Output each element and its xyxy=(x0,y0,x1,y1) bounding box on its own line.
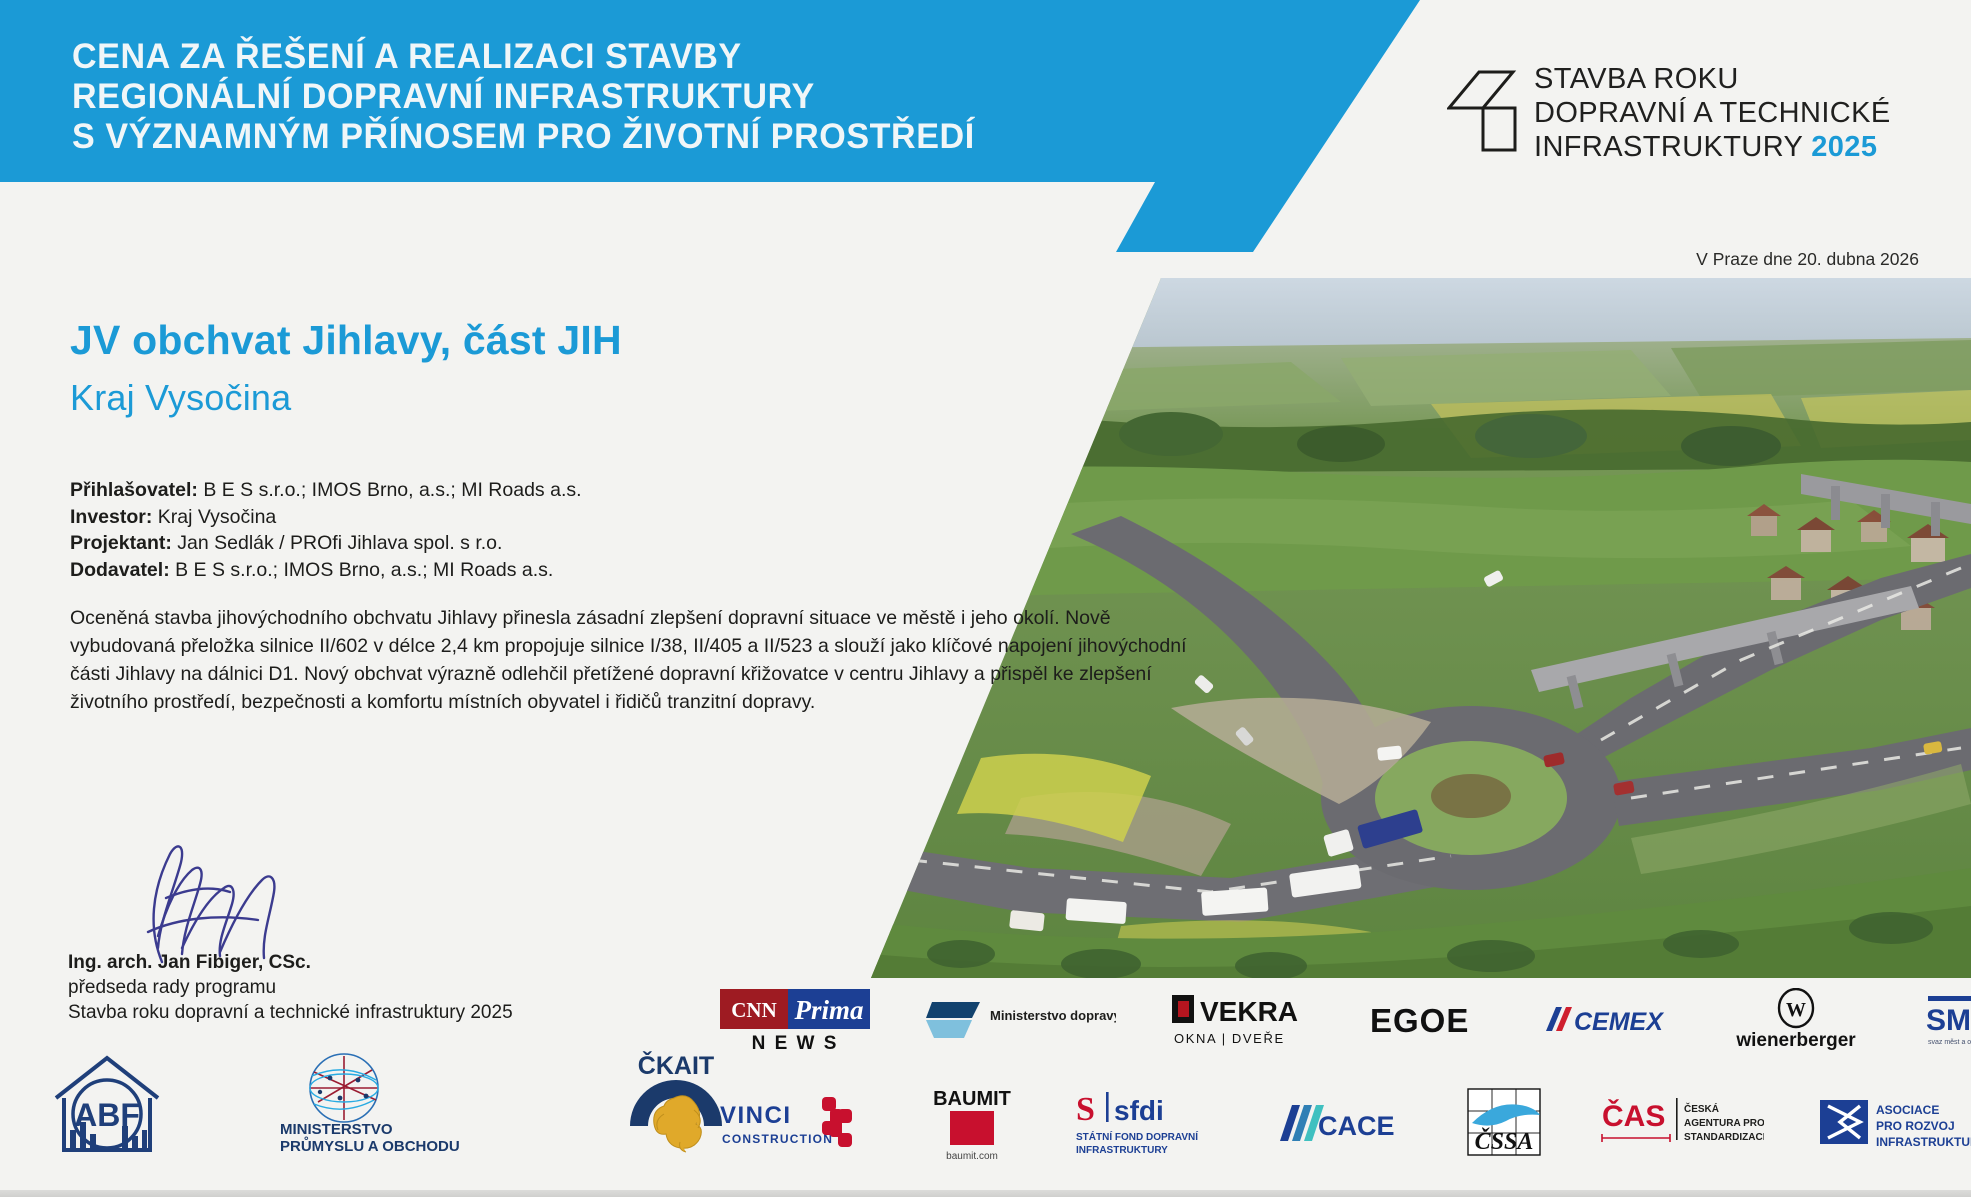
detail-label-dodavatel: Dodavatel: xyxy=(70,559,170,581)
ministerstvo-dopravy-logo: Ministerstvo dopravy xyxy=(926,992,1116,1048)
mpo-line-1: MINISTERSTVO xyxy=(280,1121,393,1138)
detail-row: Dodavatel: B E S s.r.o.; IMOS Brno, a.s.… xyxy=(70,557,582,584)
detail-label-prihlasovatel: Přihlašovatel: xyxy=(70,479,198,501)
issue-date: V Praze dne 20. dubna 2026 xyxy=(1696,249,1919,270)
ministerstvo-prumyslu-a-obchodu-logo: MINISTERSTVO PRŮMYSLU A OBCHODU xyxy=(276,1048,506,1156)
ministerstvo-dopravy-label: Ministerstvo dopravy xyxy=(990,1008,1116,1023)
program-logo-line-1: STAVBA ROKU xyxy=(1534,62,1891,96)
program-logo-line-3: INFRASTRUKTURY 2025 xyxy=(1534,130,1891,164)
ari-sub-2: PRO ROZVOJ xyxy=(1876,1119,1955,1133)
mpo-line-2: PRŮMYSLU A OBCHODU xyxy=(280,1136,460,1155)
wienerberger-label: wienerberger xyxy=(1735,1030,1856,1051)
award-category-line-1: CENA ZA ŘEŠENÍ A REALIZACI STAVBY xyxy=(72,36,975,76)
program-logo-line-2: DOPRAVNÍ A TECHNICKÉ xyxy=(1534,96,1891,130)
baumit-sub: baumit.com xyxy=(946,1151,998,1162)
asociace-pro-rozvoj-infrastruktury-logo: ASOCIACE PRO ROZVOJ INFRASTRUKTURY xyxy=(1818,1092,1971,1154)
page-bottom-edge xyxy=(0,1190,1971,1197)
baumit-logo: BAUMIT baumit.com xyxy=(924,1083,1020,1163)
vinci-label: VINCI xyxy=(720,1102,792,1129)
vekra-logo: VEKRA OKNA | DVEŘE xyxy=(1172,991,1312,1049)
signatory-block: Ing. arch. Jan Fibiger, CSc. předseda ra… xyxy=(68,950,513,1025)
detail-label-projektant: Projektant: xyxy=(70,532,172,554)
cemex-label: CEMEX xyxy=(1574,1008,1664,1036)
cas-sub-1: ČESKÁ xyxy=(1684,1102,1719,1115)
partner-logos-row-1: CNN Prima N E W S Ministerstvo dopravy V… xyxy=(720,988,1971,1052)
cemex-logo: CEMEX xyxy=(1542,999,1670,1041)
cas-sub-3: STANDARDIZACI xyxy=(1684,1132,1764,1143)
prima-label: Prima xyxy=(793,995,863,1025)
organizer-logos: ABF xyxy=(48,1046,736,1158)
news-label: N E W S xyxy=(752,1033,839,1051)
svg-text:S: S xyxy=(1076,1091,1095,1128)
project-title: JV obchvat Jihlavy, část JIH xyxy=(70,317,622,364)
cas-label: ČAS xyxy=(1602,1099,1665,1133)
detail-value-investor: Kraj Vysočina xyxy=(158,506,277,528)
detail-row: Přihlašovatel: B E S s.r.o.; IMOS Brno, … xyxy=(70,477,582,504)
vinci-sub: CONSTRUCTION xyxy=(722,1132,833,1146)
stavba-roku-mark-icon xyxy=(1447,66,1517,153)
project-region: Kraj Vysočina xyxy=(70,377,291,419)
vekra-sub: OKNA | DVEŘE xyxy=(1174,1031,1285,1046)
vinci-construction-logo: VINCI CONSTRUCTION xyxy=(718,1093,870,1153)
partner-logos-row-2: VINCI CONSTRUCTION BAUMIT baumit.com S s… xyxy=(718,1083,1971,1163)
program-logo-line-3-text: INFRASTRUKTURY xyxy=(1534,131,1803,163)
signatory-program: Stavba roku dopravní a technické infrast… xyxy=(68,1000,513,1025)
cas-sub-2: AGENTURA PRO xyxy=(1684,1118,1764,1129)
detail-row: Projektant: Jan Sedlák / PROfi Jihlava s… xyxy=(70,530,582,557)
ckait-logo-label: ČKAIT xyxy=(638,1050,714,1080)
detail-value-projektant: Jan Sedlák / PROfi Jihlava spol. s r.o. xyxy=(177,532,502,554)
smo-sub: svaz měst a obcí České republiky xyxy=(1928,1037,1971,1046)
award-category-heading: CENA ZA ŘEŠENÍ A REALIZACI STAVBY REGION… xyxy=(72,36,975,156)
detail-label-investor: Investor: xyxy=(70,506,152,528)
ari-sub-1: ASOCIACE xyxy=(1876,1103,1939,1117)
program-logo: STAVBA ROKU DOPRAVNÍ A TECHNICKÉ INFRAST… xyxy=(1447,62,1891,164)
detail-row: Investor: Kraj Vysočina xyxy=(70,504,582,531)
egoe-logo: EGOE xyxy=(1368,998,1486,1042)
ari-sub-3: INFRASTRUKTURY xyxy=(1876,1135,1971,1149)
egoe-label: EGOE xyxy=(1370,1002,1469,1039)
sfdi-sub-2: INFRASTRUKTURY xyxy=(1076,1145,1168,1156)
vekra-label: VEKRA xyxy=(1200,996,1298,1027)
project-description: Oceněná stavba jihovýchodního obchvatu J… xyxy=(70,604,1200,716)
certificate-page: CENA ZA ŘEŠENÍ A REALIZACI STAVBY REGION… xyxy=(0,0,1971,1197)
project-details: Přihlašovatel: B E S s.r.o.; IMOS Brno, … xyxy=(70,477,582,583)
signature-mark xyxy=(108,836,328,966)
cssa-label: ČSSA xyxy=(1475,1128,1534,1155)
smo-logo: SMO svaz měst a obcí České republiky xyxy=(1922,992,1971,1048)
program-logo-year: 2025 xyxy=(1811,131,1877,163)
abf-logo: ABF xyxy=(48,1046,166,1158)
signatory-role: předseda rady programu xyxy=(68,975,513,1000)
sfdi-logo: S sfdi STÁTNÍ FOND DOPRAVNÍ INFRASTRUKTU… xyxy=(1074,1088,1224,1158)
sfdi-label: sfdi xyxy=(1114,1095,1164,1126)
cace-logo: CACE xyxy=(1278,1099,1408,1147)
cace-label: CACE xyxy=(1318,1111,1395,1141)
cas-logo: ČAS ČESKÁ AGENTURA PRO STANDARDIZACI xyxy=(1600,1092,1764,1154)
detail-value-prihlasovatel: B E S s.r.o.; IMOS Brno, a.s.; MI Roads … xyxy=(203,479,581,501)
award-category-line-2: REGIONÁLNÍ DOPRAVNÍ INFRASTRUKTURY xyxy=(72,76,975,116)
signatory-name: Ing. arch. Jan Fibiger, CSc. xyxy=(68,950,513,975)
sfdi-sub-1: STÁTNÍ FOND DOPRAVNÍ xyxy=(1076,1130,1198,1143)
abf-logo-label: ABF xyxy=(74,1097,140,1133)
program-logo-text: STAVBA ROKU DOPRAVNÍ A TECHNICKÉ INFRAST… xyxy=(1534,62,1891,164)
cssa-logo: ČSSA xyxy=(1462,1085,1546,1161)
baumit-label: BAUMIT xyxy=(933,1088,1011,1110)
cnn-prima-news-logo: CNN Prima N E W S xyxy=(720,989,870,1051)
wienerberger-logo: W wienerberger xyxy=(1726,988,1866,1052)
svg-text:W: W xyxy=(1786,999,1806,1021)
award-category-line-3: S VÝZNAMNÝM PŘÍNOSEM PRO ŽIVOTNÍ PROSTŘE… xyxy=(72,116,975,156)
smo-label: SMO xyxy=(1926,1004,1971,1037)
detail-value-dodavatel: B E S s.r.o.; IMOS Brno, a.s.; MI Roads … xyxy=(175,559,553,581)
cnn-label: CNN xyxy=(731,998,777,1022)
